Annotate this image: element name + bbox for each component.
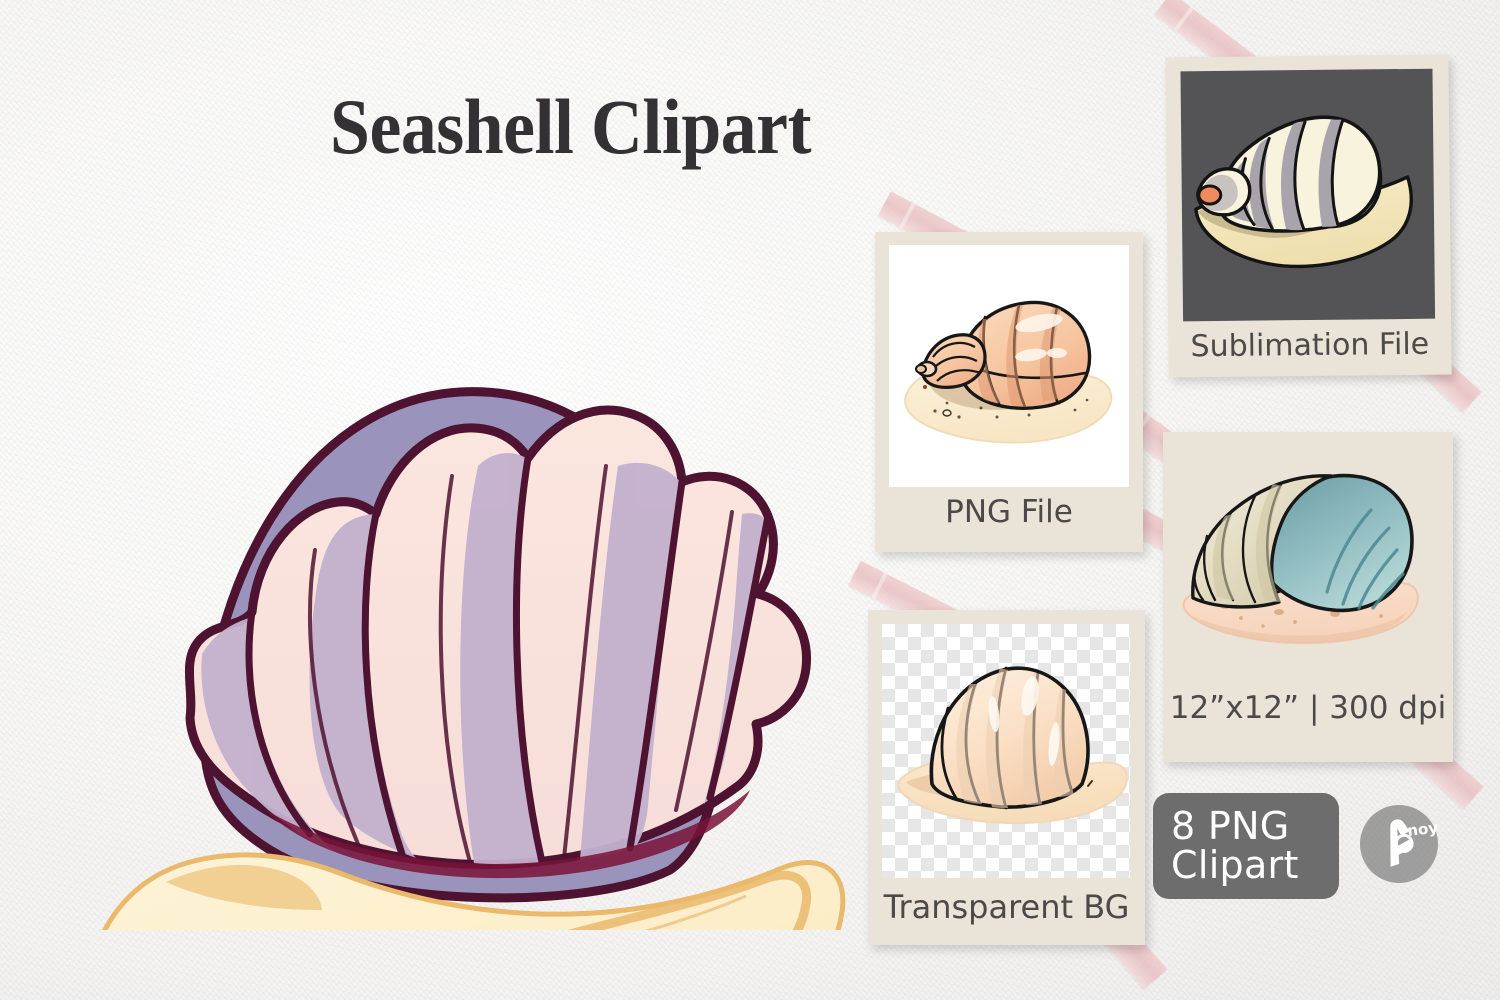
anoy-brand-logo-icon: noy [1360,805,1438,883]
card-png-photo [889,245,1129,487]
card-sublimation-file[interactable]: Sublimation File [1165,55,1451,378]
hero-scallop-shell-illustration [70,250,850,930]
card-size-art [1163,440,1453,690]
card-sublimation-label: Sublimation File [1168,327,1451,365]
card-png-label: PNG File [875,494,1143,530]
badge-line-2: Clipart [1171,846,1339,885]
card-transparent-photo [882,624,1130,878]
badge-line-1: 8 PNG [1171,807,1339,846]
card-transparent-bg[interactable]: Transparent BG [868,610,1145,945]
card-transparent-label: Transparent BG [868,888,1145,926]
svg-text:noy: noy [1406,819,1438,840]
card-size-dpi[interactable]: 12”x12” | 300 dpi [1163,432,1453,762]
card-sublimation-photo [1180,69,1435,322]
card-png-file[interactable]: PNG File [875,232,1143,552]
card-size-label: 12”x12” | 300 dpi [1163,690,1453,726]
page-title: Seashell Clipart [330,88,811,166]
badge-png-count: 8 PNG Clipart [1153,793,1339,899]
